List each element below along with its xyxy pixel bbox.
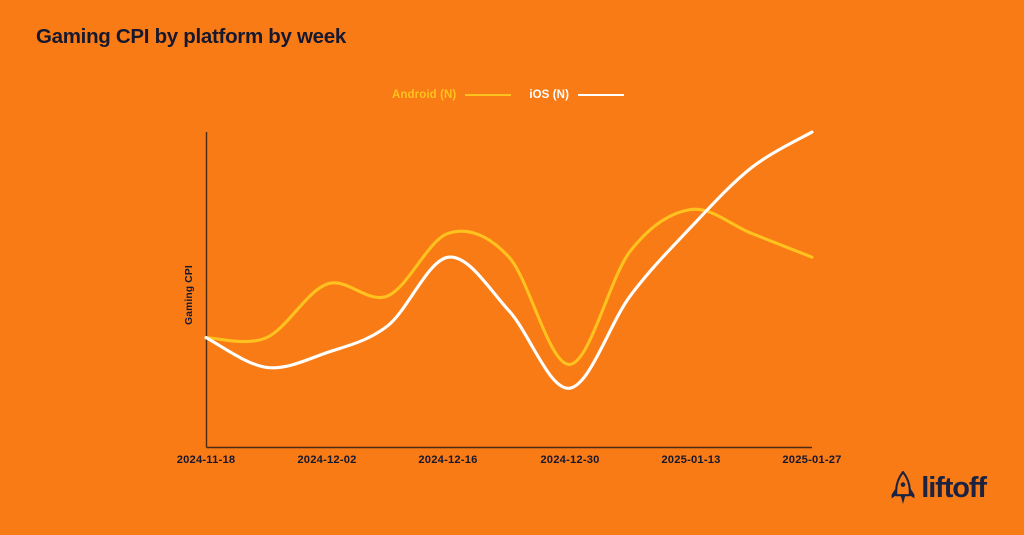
x-tick-label: 2024-12-16 bbox=[418, 454, 477, 466]
x-tick-label: 2024-12-30 bbox=[540, 454, 599, 466]
series-line-ios bbox=[206, 132, 812, 388]
chart-plot-area: Gaming CPI 2024-11-18 2024-12-02 2024-12… bbox=[0, 0, 1024, 535]
chart-svg: Gaming CPI 2024-11-18 2024-12-02 2024-12… bbox=[0, 0, 1024, 535]
x-tick-label: 2024-11-18 bbox=[177, 454, 236, 466]
y-axis-title: Gaming CPI bbox=[184, 265, 195, 325]
x-tick-label: 2024-12-02 bbox=[297, 454, 356, 466]
x-tick-label: 2025-01-13 bbox=[661, 454, 720, 466]
brand-logo: liftoff bbox=[890, 471, 986, 505]
rocket-icon bbox=[890, 471, 916, 505]
brand-wordmark: liftoff bbox=[921, 474, 986, 503]
chart-page: Gaming CPI by platform by week Android (… bbox=[0, 0, 1024, 535]
series-line-android bbox=[206, 209, 812, 364]
x-tick-label: 2025-01-27 bbox=[782, 454, 841, 466]
